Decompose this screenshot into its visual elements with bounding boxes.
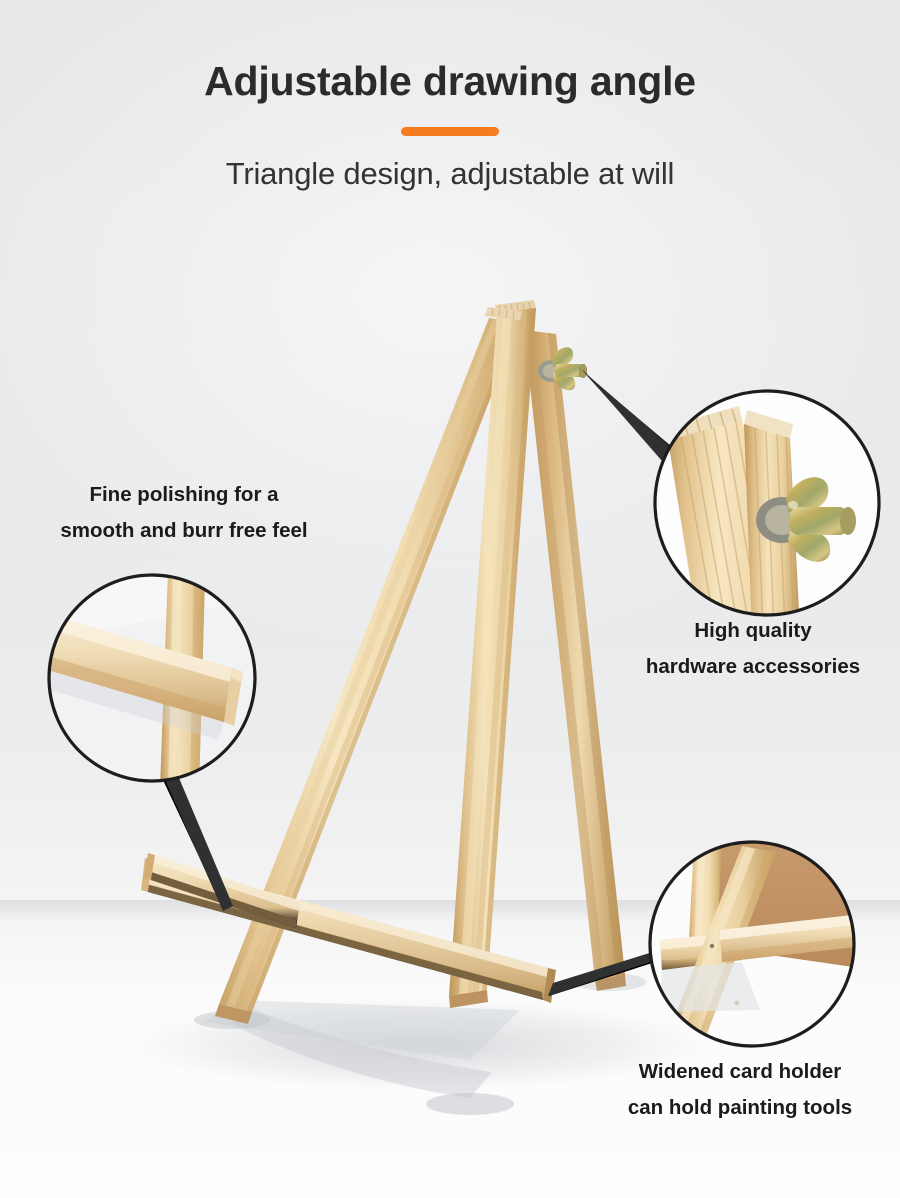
- callout-caption-hardware: High quality hardware accessories: [608, 613, 898, 685]
- caption-line-1: High quality: [608, 613, 898, 649]
- callout-circle-hardware: [655, 391, 879, 640]
- caption-line-2: hardware accessories: [608, 649, 898, 685]
- product-illustration: [0, 0, 900, 1198]
- infographic-canvas: Adjustable drawing angle Triangle design…: [0, 0, 900, 1198]
- callout-caption-fine-polishing: Fine polishing for a smooth and burr fre…: [14, 477, 354, 549]
- caption-line-2: smooth and burr free feel: [14, 513, 354, 549]
- caption-line-2: can hold painting tools: [580, 1090, 900, 1126]
- caption-line-1: Fine polishing for a: [14, 477, 354, 513]
- callout-caption-card-holder: Widened card holder can hold painting to…: [580, 1054, 900, 1126]
- callout-circle-fine-polishing: [30, 572, 255, 790]
- caption-line-1: Widened card holder: [580, 1054, 900, 1090]
- callout-circle-card-holder: [650, 842, 864, 1056]
